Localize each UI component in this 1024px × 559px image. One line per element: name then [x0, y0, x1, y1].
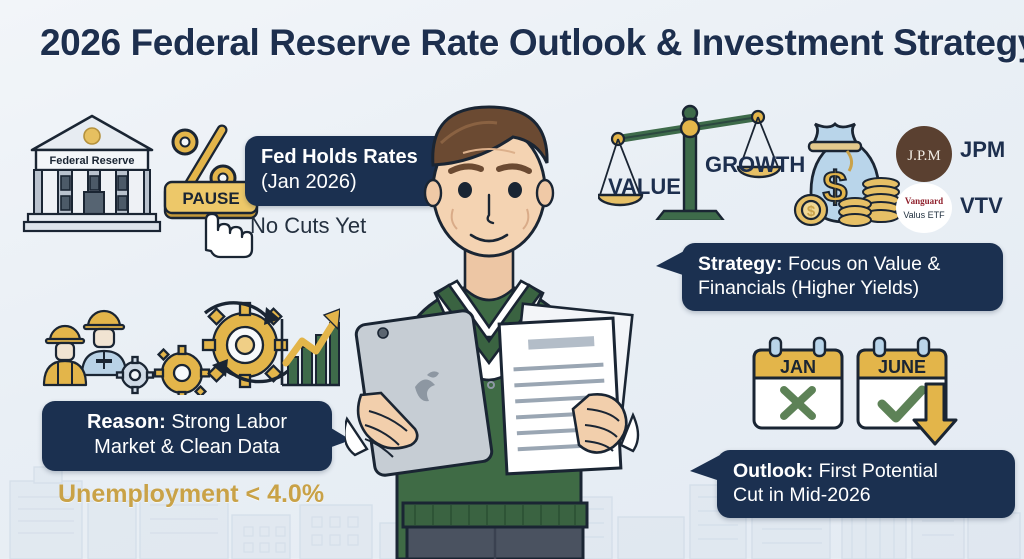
pause-button-label: PAUSE [182, 189, 239, 208]
outlook-callout-bold: Outlook: [733, 460, 813, 482]
fed-callout-date: (Jan 2026) [261, 171, 357, 193]
jpm-logo-icon: J.P.M [895, 125, 953, 183]
reason-callout-rest: Strong Labor [166, 411, 287, 433]
strategy-callout-rest: Focus on Value & [783, 253, 941, 275]
strategy-callout: Strategy: Focus on Value & Financials (H… [682, 243, 1003, 311]
federal-reserve-building-icon: Federal Reserve [22, 108, 162, 238]
building-label: Federal Reserve [50, 155, 135, 167]
vanguard-logo-icon: Vanguard Valus ETF [895, 182, 953, 234]
worker-icons [44, 311, 126, 385]
calendar-jan: JAN [748, 336, 848, 434]
page-title: 2026 Federal Reserve Rate Outlook & Inve… [40, 22, 990, 64]
outlook-callout-tail [690, 455, 722, 493]
gear-icons [117, 303, 288, 395]
strategy-callout-tail [656, 250, 688, 288]
vtv-ticker-label: VTV [960, 193, 1003, 219]
svg-text:$: $ [807, 203, 816, 220]
reason-callout-line2: Market & Clean Data [94, 436, 280, 458]
hand-cursor-icon [206, 214, 252, 257]
outlook-callout-rest: First Potential [813, 460, 938, 482]
scale-value-label: VALUE [608, 174, 681, 200]
right-hand [573, 394, 638, 452]
strategy-callout-bold: Strategy: [698, 253, 783, 275]
growth-chart-icon [282, 309, 340, 385]
money-bag-icon: $ $ [783, 122, 903, 228]
vanguard-logo-bottom: Valus ETF [903, 210, 945, 220]
infographic-canvas: 2026 Federal Reserve Rate Outlook & Inve… [0, 0, 1024, 559]
reason-callout: Reason: Strong Labor Market & Clean Data [42, 401, 332, 471]
calendar-jan-month: JAN [780, 357, 816, 377]
jpm-logo-text: J.P.M [907, 148, 940, 164]
reason-callout-bold: Reason: [87, 411, 166, 433]
unemployment-stat: Unemployment < 4.0% [58, 480, 324, 509]
vanguard-logo-top: Vanguard [905, 196, 943, 206]
outlook-callout: Outlook: First Potential Cut in Mid-2026 [717, 450, 1015, 518]
strategy-callout-line2: Financials (Higher Yields) [698, 277, 919, 299]
outlook-callout-line2: Cut in Mid-2026 [733, 484, 871, 506]
calendar-june: JUNE [852, 336, 962, 446]
jpm-ticker-label: JPM [960, 137, 1005, 163]
labor-market-icons [30, 285, 340, 395]
calendar-june-month: JUNE [878, 357, 926, 377]
